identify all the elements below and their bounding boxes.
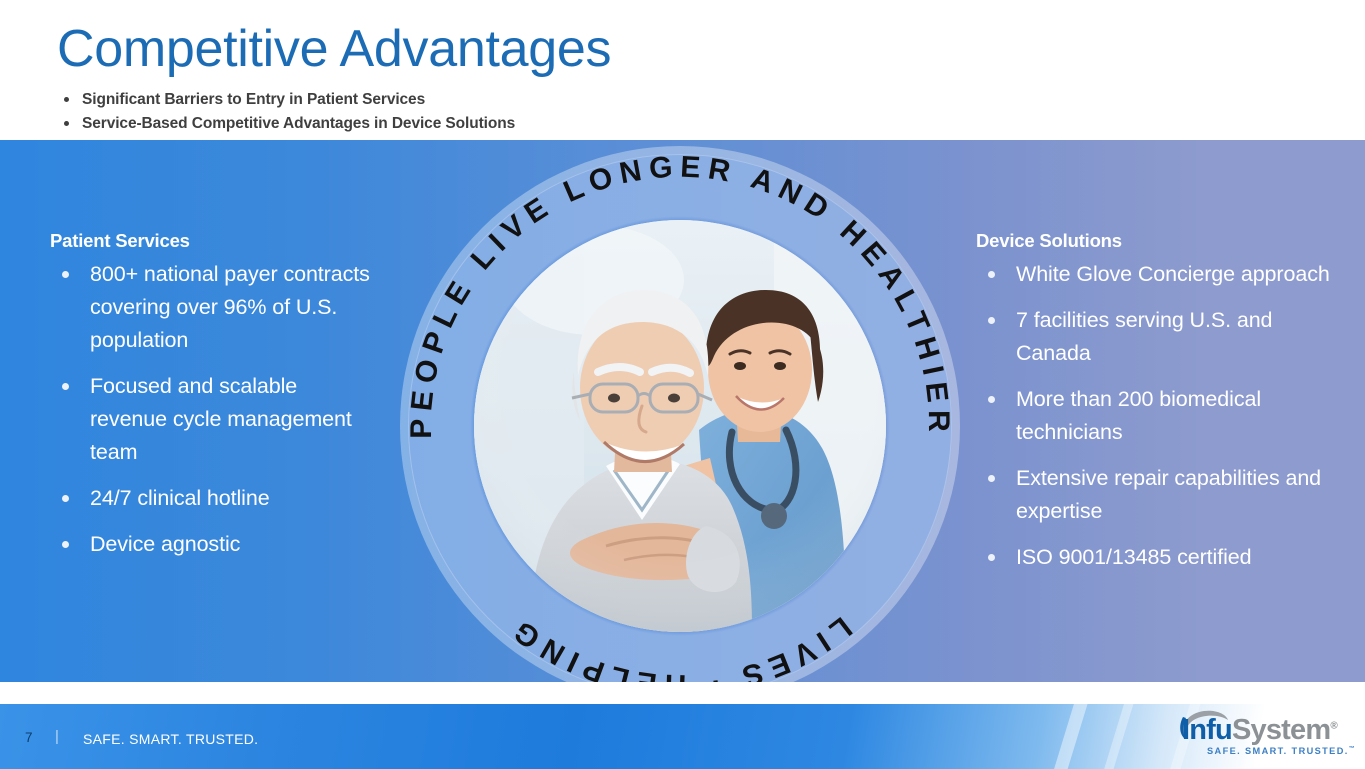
list-item: ISO 9001/13485 certified — [976, 541, 1351, 574]
header-bullet-item: Significant Barriers to Entry in Patient… — [60, 88, 515, 112]
badge-text-top: PEOPLE LIVE LONGER AND HEALTHIER — [405, 150, 955, 438]
bullet-dot-icon — [988, 317, 995, 324]
list-item-text: 24/7 clinical hotline — [90, 486, 270, 510]
bullet-dot-icon — [62, 383, 69, 390]
bullet-dot-icon — [64, 97, 69, 102]
patient-services-column: Patient Services 800+ national payer con… — [50, 230, 380, 574]
footer-tagline: SAFE. SMART. TRUSTED. — [83, 731, 258, 747]
helping-people-badge: PEOPLE LIVE LONGER AND HEALTHIER LIVES ·… — [400, 146, 960, 682]
footer-spacer — [0, 682, 1365, 704]
list-item: White Glove Concierge approach — [976, 258, 1351, 291]
header-bullet-text: Service-Based Competitive Advantages in … — [82, 115, 515, 132]
list-item: 800+ national payer contracts covering o… — [50, 258, 380, 357]
list-item-text: Focused and scalable revenue cycle manag… — [90, 374, 352, 464]
list-item-text: White Glove Concierge approach — [1016, 262, 1330, 286]
logo-tagline-trademark: ™ — [1349, 746, 1356, 752]
page-number: 7 — [25, 730, 33, 745]
logo-tagline: SAFE. SMART. TRUSTED.™ — [1207, 746, 1356, 756]
list-item-text: Device agnostic — [90, 532, 240, 556]
list-item: Focused and scalable revenue cycle manag… — [50, 370, 380, 469]
logo-tagline-text: SAFE. SMART. TRUSTED. — [1207, 746, 1349, 756]
footer-separator: | — [55, 728, 59, 745]
header-bullet-item: Service-Based Competitive Advantages in … — [60, 112, 515, 136]
slide: Competitive Advantages Significant Barri… — [0, 0, 1365, 769]
header-bullet-list: Significant Barriers to Entry in Patient… — [60, 88, 515, 136]
patient-services-list: 800+ national payer contracts covering o… — [50, 258, 380, 561]
badge-circular-text: PEOPLE LIVE LONGER AND HEALTHIER LIVES ·… — [400, 146, 960, 682]
logo-word-infu: Infu — [1182, 714, 1232, 746]
device-solutions-column: Device Solutions White Glove Concierge a… — [976, 230, 1351, 587]
slide-footer: 7 | SAFE. SMART. TRUSTED. — [0, 704, 1365, 769]
bullet-dot-icon — [988, 396, 995, 403]
page-title: Competitive Advantages — [57, 18, 611, 80]
list-item-text: ISO 9001/13485 certified — [1016, 545, 1251, 569]
list-item: 24/7 clinical hotline — [50, 482, 380, 515]
device-solutions-list: White Glove Concierge approach 7 facilit… — [976, 258, 1351, 574]
bullet-dot-icon — [988, 271, 995, 278]
patient-services-heading: Patient Services — [50, 230, 380, 252]
list-item: Extensive repair capabilities and expert… — [976, 462, 1351, 528]
bullet-dot-icon — [64, 121, 69, 126]
list-item-text: 800+ national payer contracts covering o… — [90, 262, 370, 352]
logo-wordmark: InfuSystem® — [1182, 714, 1337, 747]
list-item: More than 200 biomedical technicians — [976, 383, 1351, 449]
infusystem-logo: InfuSystem® SAFE. SMART. TRUSTED.™ — [1178, 706, 1353, 762]
bullet-dot-icon — [988, 475, 995, 482]
badge-text-bottom: LIVES · HELPING — [502, 610, 857, 682]
logo-word-system: System — [1232, 714, 1330, 746]
bullet-dot-icon — [62, 271, 69, 278]
list-item-text: More than 200 biomedical technicians — [1016, 387, 1261, 444]
list-item: 7 facilities serving U.S. and Canada — [976, 304, 1351, 370]
slide-body-panel: Patient Services 800+ national payer con… — [0, 140, 1365, 682]
slide-header: Competitive Advantages Significant Barri… — [0, 0, 1365, 140]
header-bullet-text: Significant Barriers to Entry in Patient… — [82, 91, 425, 108]
device-solutions-heading: Device Solutions — [976, 230, 1351, 252]
bullet-dot-icon — [62, 541, 69, 548]
list-item: Device agnostic — [50, 528, 380, 561]
bullet-dot-icon — [62, 495, 69, 502]
bullet-dot-icon — [988, 554, 995, 561]
list-item-text: Extensive repair capabilities and expert… — [1016, 466, 1321, 523]
list-item-text: 7 facilities serving U.S. and Canada — [1016, 308, 1272, 365]
logo-trademark: ® — [1330, 720, 1337, 731]
